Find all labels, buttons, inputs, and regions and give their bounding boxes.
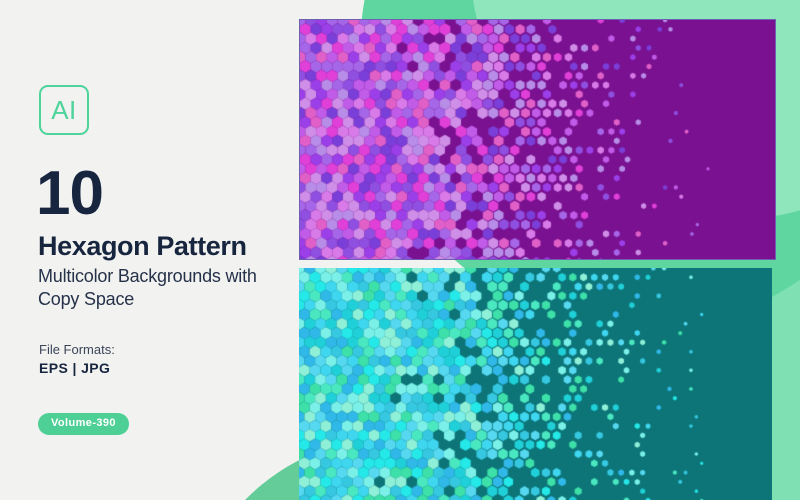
file-formats-label: File Formats:	[39, 343, 115, 356]
teal-hexagon-preview[interactable]	[299, 268, 772, 500]
volume-badge: Volume-390	[38, 413, 129, 435]
item-count: 10	[36, 163, 103, 225]
info-column: AI 10 Hexagon Pattern Multicolor Backgro…	[36, 0, 286, 500]
ai-badge-label: AI	[51, 97, 77, 123]
hexagon-pattern-teal	[299, 268, 772, 500]
poster-canvas: AI 10 Hexagon Pattern Multicolor Backgro…	[0, 0, 800, 500]
purple-hexagon-preview[interactable]	[299, 19, 776, 260]
hexagon-pattern-purple	[300, 20, 775, 259]
page-title: Hexagon Pattern	[38, 233, 247, 260]
file-formats-value: EPS | JPG	[39, 361, 110, 375]
page-subtitle: Multicolor Backgrounds with Copy Space	[38, 265, 288, 310]
ai-format-badge: AI	[39, 85, 89, 135]
